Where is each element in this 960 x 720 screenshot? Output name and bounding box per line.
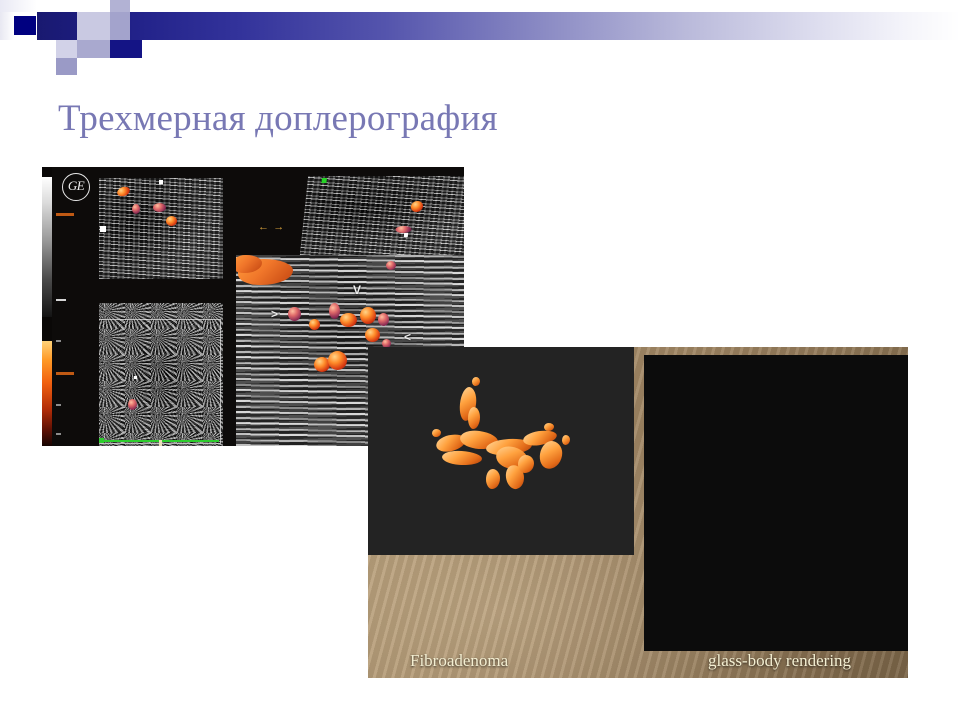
decor-square-midblue-3 (77, 40, 110, 58)
decor-square-lightblue-3 (56, 40, 77, 58)
header-gradient-band (37, 12, 960, 40)
vessel-branch (442, 450, 483, 467)
doppler-spot (309, 319, 320, 330)
depth-caliper (159, 440, 162, 446)
doppler-colorbar (42, 341, 52, 446)
decor-square-fade-left (0, 12, 14, 40)
decor-square-pale-1 (0, 0, 37, 12)
decor-square-midblue-top (110, 0, 130, 12)
doppler-spot (166, 216, 177, 226)
plane-marker-dot (159, 180, 163, 184)
roi-box[interactable] (99, 319, 221, 444)
doppler-spot (329, 303, 340, 319)
ge-logo-icon: GE (62, 173, 90, 201)
doppler-spot (340, 313, 357, 327)
doppler-spot (328, 351, 347, 370)
vessel-fleck (472, 377, 480, 386)
decor-square-lightblue-2 (77, 12, 110, 40)
doppler-spot (132, 204, 140, 214)
decor-square-midblue-4 (56, 58, 77, 75)
panel-transverse[interactable] (99, 303, 223, 446)
plane-marker-dot (134, 376, 137, 379)
colorbar-tick-orange-1 (56, 213, 74, 216)
figure-3d-rendering-pair[interactable]: Fibroadenoma glass-body rendering (368, 347, 908, 678)
vessel-fleck (544, 423, 554, 431)
doppler-spot (288, 307, 301, 321)
decor-square-navy-2 (110, 40, 142, 58)
marker-right: > (271, 307, 278, 321)
doppler-spot (128, 399, 137, 410)
roi-handle[interactable] (99, 438, 104, 443)
colorbar-tick-1 (56, 299, 66, 301)
marker-left: < (404, 330, 411, 344)
colorbar-tick-4 (56, 433, 61, 435)
panel-vascular-tree[interactable] (368, 347, 634, 555)
decor-square-midblue-2 (110, 12, 130, 40)
plane-marker-dot (100, 226, 106, 232)
vessel-branch (518, 455, 534, 473)
caption-fibroadenoma: Fibroadenoma (410, 651, 508, 671)
doppler-spot (386, 261, 396, 270)
panel-glass-body[interactable] (644, 355, 908, 651)
vessel-branch (486, 469, 500, 489)
doppler-spot (365, 328, 380, 342)
marker-v: V (353, 283, 361, 297)
doppler-spot (378, 313, 389, 326)
vessel-branch (468, 407, 480, 429)
doppler-spot (360, 307, 376, 324)
scroll-arrows-icon[interactable]: ← → (258, 221, 285, 233)
panel-sagittal[interactable] (99, 178, 223, 279)
decor-square-navy (14, 16, 36, 35)
grayscale-colorbar (42, 177, 52, 317)
page-title: Трехмерная доплерография (58, 97, 498, 140)
colorbar-tick-3 (56, 404, 61, 406)
doppler-spot (153, 203, 166, 212)
decor-square-lightblue-1 (37, 0, 49, 12)
origin-marker (321, 178, 327, 183)
vessel-fleck (562, 435, 570, 445)
caption-glass-body-rendering: glass-body rendering (708, 651, 851, 671)
plane-marker-dot (404, 233, 408, 237)
colorbar-tick-orange-2 (56, 372, 74, 375)
panel-coronal[interactable] (300, 176, 464, 255)
colorbar-tick-2 (56, 340, 61, 342)
vessel-fleck (432, 429, 441, 437)
